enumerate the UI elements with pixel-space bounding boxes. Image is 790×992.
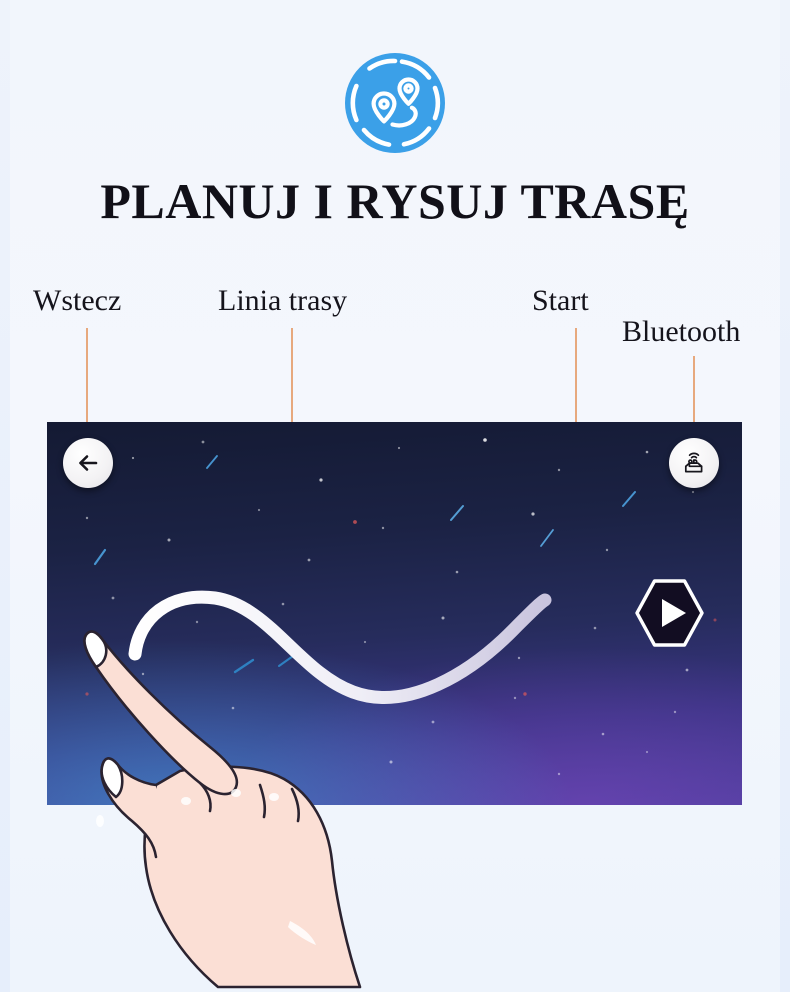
- poster-root: PLANUJ I RYSUJ TRASĘ Wstecz Linia trasy …: [0, 0, 790, 992]
- page-title: PLANUJ I RYSUJ TRASĘ: [0, 172, 790, 230]
- start-button[interactable]: [634, 578, 705, 648]
- right-edge-tint: [780, 0, 790, 992]
- annotation-label-wstecz: Wstecz: [33, 284, 121, 318]
- route-pins-logo-icon: [344, 52, 446, 154]
- annotation-label-start: Start: [532, 284, 589, 318]
- annotation-label-bluetooth: Bluetooth: [622, 315, 740, 349]
- annotation-label-linia-trasy: Linia trasy: [218, 284, 347, 318]
- pointing-hand-illustration: [60, 615, 390, 992]
- arrow-left-icon: [75, 450, 101, 476]
- bluetooth-button[interactable]: [669, 438, 719, 488]
- bluetooth-device-signal-icon: [679, 448, 709, 478]
- left-edge-tint: [0, 0, 10, 992]
- back-button[interactable]: [63, 438, 113, 488]
